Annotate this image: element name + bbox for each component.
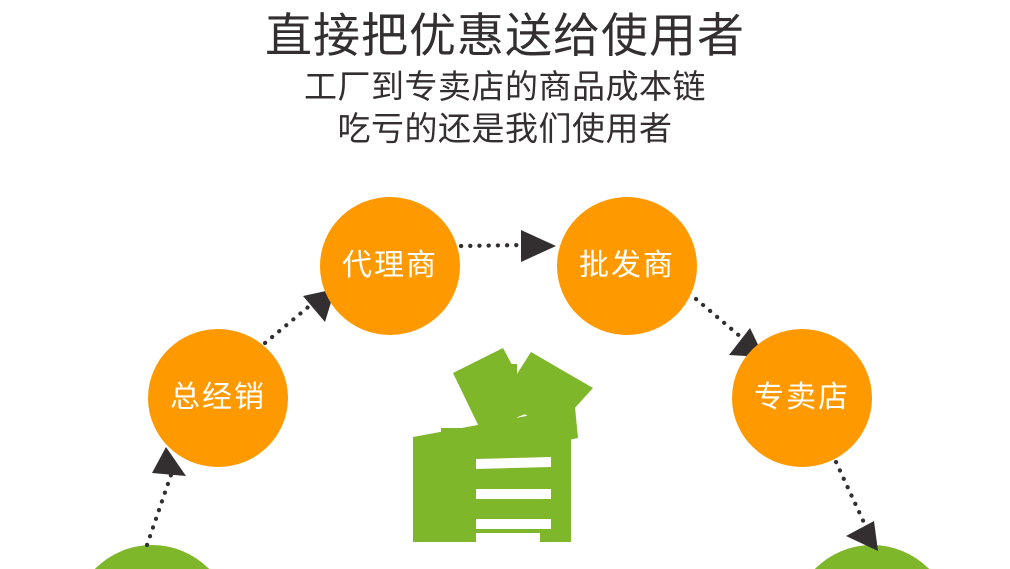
save-character-glyph [413,348,593,548]
node-pifashang[interactable]: 批发商 [557,197,697,335]
node-pifashang-label: 批发商 [579,249,675,282]
node-zhuanmaidian[interactable]: 专卖店 [732,329,872,467]
terminal-consumer-blob [792,545,952,569]
connector-zongjingxiao-to-dailishang [265,289,335,343]
connector-zhuanmaidian-to-consumer [836,462,878,551]
supply-chain-diagram: 总经销 代理商 批发商 专卖店 [0,0,1010,569]
connector-dailishang-to-pifashang [461,230,556,262]
poster-canvas: 直接把优惠送给使用者 工厂到专卖店的商品成本链 吃亏的还是我们使用者 [0,0,1010,569]
node-dailishang-label: 代理商 [342,249,438,282]
terminal-factory-blob [72,545,232,569]
node-zongjingxiao[interactable]: 总经销 [148,329,288,467]
node-zhuanmaidian-label: 专卖店 [754,381,850,414]
connector-factory-to-zongjingxiao [147,447,186,545]
node-zongjingxiao-label: 总经销 [170,381,266,414]
node-dailishang[interactable]: 代理商 [320,197,460,335]
